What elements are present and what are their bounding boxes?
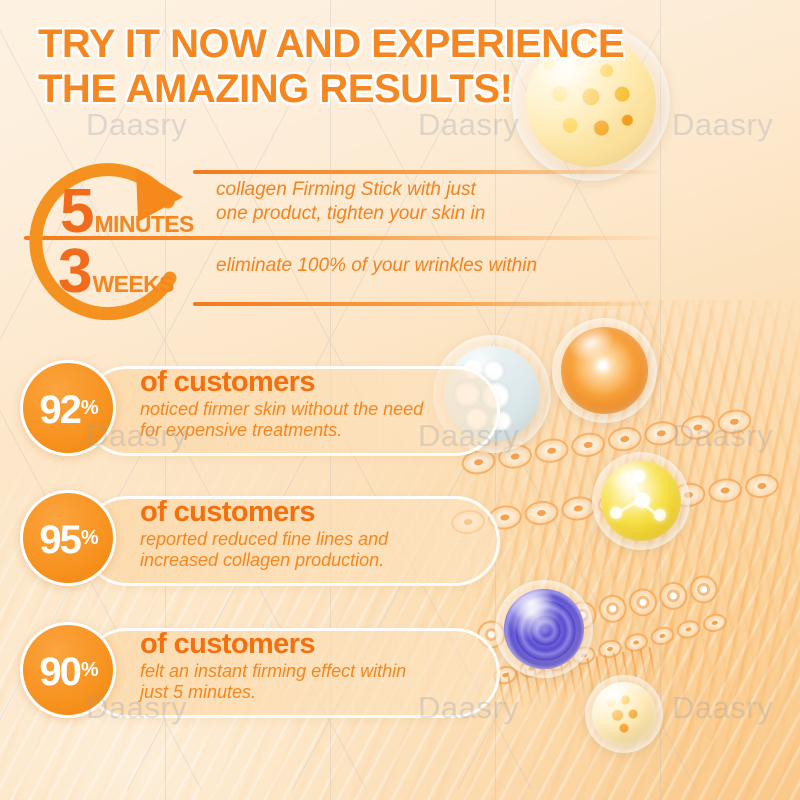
honeycomb-sphere-small (585, 675, 663, 753)
cycle-number-minutes: 5 (60, 184, 92, 240)
cycle-numbers: 5 MINUTES 3 WEEKS (18, 150, 218, 325)
cell-row-basal (475, 573, 720, 651)
stat-text-92: of customers noticed firmer skin without… (140, 368, 478, 442)
stat-text-95: of customers reported reduced fine lines… (140, 498, 478, 572)
stat-badge-92: 92 % (20, 360, 116, 456)
cycle-number-weeks: 3 (58, 244, 90, 300)
timing-cycle-block: 5 MINUTES 3 WEEKS collagen Firming Stick… (18, 150, 658, 325)
stat-percent-92: 92 (39, 390, 80, 430)
headline-line-1: TRY IT NOW AND EXPERIENCE (38, 22, 758, 67)
skin-layer-illustration (460, 300, 800, 800)
stat-percent-90: 90 (39, 652, 80, 692)
stat-block-92: 92 % of customers noticed firmer skin wi… (20, 360, 500, 456)
cycle-row-weeks: 3 WEEKS (58, 244, 174, 300)
stat-badge-95: 95 % (20, 490, 116, 586)
stat-heading-90: of customers (140, 630, 478, 660)
headline: TRY IT NOW AND EXPERIENCE THE AMAZING RE… (38, 22, 758, 112)
cell-row-lower (491, 611, 728, 687)
cycle-row-minutes: 5 MINUTES (60, 184, 194, 240)
stat-detail-90: felt an instant firming effect within ju… (140, 661, 478, 704)
stat-detail-95: reported reduced fine lines and increase… (140, 529, 478, 572)
cycle-unit-weeks: WEEKS (92, 271, 173, 298)
percent-symbol-icon: % (81, 398, 97, 418)
cycle-rule-bottom (193, 302, 658, 306)
stat-heading-95: of customers (140, 498, 478, 528)
stat-block-90: 90 % of customers felt an instant firmin… (20, 622, 500, 718)
swirl-core (504, 589, 584, 669)
honeycomb-core-small (592, 682, 656, 746)
headline-line-2: THE AMAZING RESULTS! (38, 67, 758, 112)
watermark: Daasry (672, 690, 773, 726)
stat-percent-95: 95 (39, 520, 80, 560)
skin-science-artwork (470, 0, 800, 800)
molecule-core (601, 461, 681, 541)
cell-row-upper (460, 407, 753, 477)
stat-heading-92: of customers (140, 368, 478, 398)
stat-block-95: 95 % of customers reported reduced fine … (20, 490, 500, 586)
watermark: Daasry (672, 418, 773, 454)
radiant-core (561, 327, 647, 413)
cycle-copy-minutes: collagen Firming Stick with just one pro… (216, 178, 485, 226)
blue-swirl-sphere (495, 580, 593, 678)
watermark: Daasry (672, 107, 773, 143)
yellow-molecule-sphere (592, 452, 690, 550)
stat-badge-90: 90 % (20, 622, 116, 718)
promo-poster: TRY IT NOW AND EXPERIENCE THE AMAZING RE… (0, 0, 800, 800)
collagen-fiber-bundle (498, 647, 658, 713)
cycle-copy-weeks: eliminate 100% of your wrinkles within (216, 254, 537, 278)
radiant-orange-sphere (552, 318, 657, 423)
stat-text-90: of customers felt an instant firming eff… (140, 630, 478, 704)
percent-symbol-icon: % (81, 660, 97, 680)
watermark: Daasry (418, 107, 519, 143)
percent-symbol-icon: % (81, 528, 97, 548)
cycle-rule-top (193, 170, 658, 174)
cycle-unit-minutes: MINUTES (94, 211, 193, 238)
watermark: Daasry (86, 107, 187, 143)
stat-detail-92: noticed firmer skin without the need for… (140, 399, 478, 442)
